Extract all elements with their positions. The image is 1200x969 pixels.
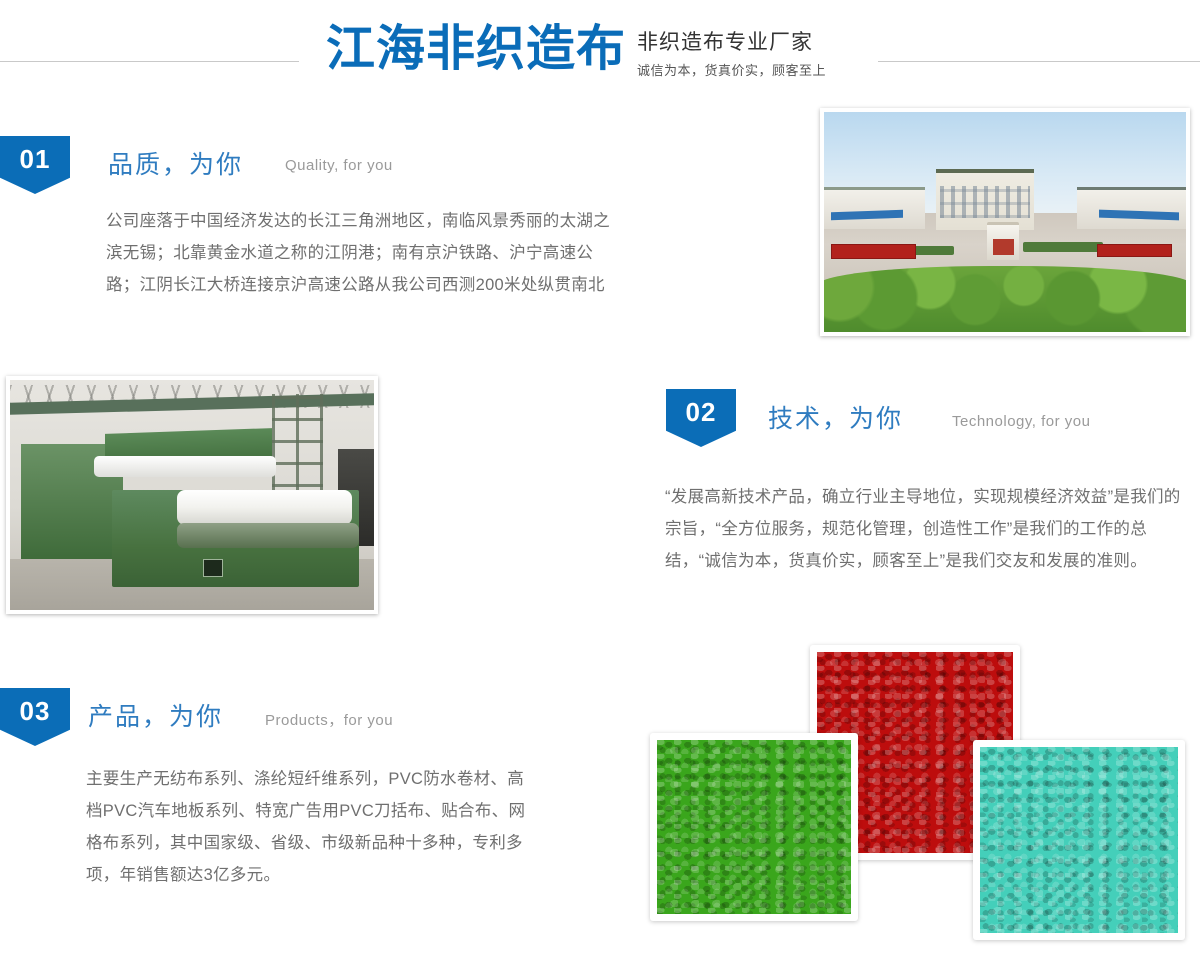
machine-photo-upper-roll bbox=[94, 456, 276, 477]
section-badge-01: 01 bbox=[0, 136, 70, 194]
section-body-02: “发展高新技术产品，确立行业主导地位，实现规模经济效益”是我们的宗旨，“全方位服… bbox=[665, 481, 1190, 577]
machine-photo-fabric-roll bbox=[177, 490, 352, 525]
header-rule-right bbox=[878, 61, 1200, 62]
photo-red-banner-right bbox=[1097, 244, 1171, 257]
brand-subtitle: 非织造布专业厂家 bbox=[637, 28, 813, 58]
photo-office-building bbox=[936, 169, 1034, 230]
section-title-cn-03: 产品，为你 bbox=[88, 700, 223, 734]
header-rule-left bbox=[0, 61, 299, 62]
photo-red-banner-left bbox=[831, 244, 916, 259]
photo-gate-house bbox=[987, 222, 1020, 260]
green-swatch-texture bbox=[657, 740, 851, 914]
nonwoven-production-line-photo bbox=[6, 376, 378, 614]
green-pvc-leather-swatch bbox=[650, 733, 858, 921]
section-badge-02: 02 bbox=[666, 389, 736, 447]
photo-right-workshop bbox=[1077, 187, 1186, 230]
section-title-en-01: Quality, for you bbox=[285, 155, 393, 177]
brand-title: 江海非织造布 bbox=[326, 19, 626, 79]
photo-left-workshop bbox=[824, 187, 925, 230]
cyan-pvc-leather-swatch bbox=[973, 740, 1185, 940]
section-title-en-03: Products，for you bbox=[265, 710, 393, 732]
section-badge-03: 03 bbox=[0, 688, 70, 746]
brand-slogan: 诚信为本，货真价实，顾客至上 bbox=[637, 61, 826, 81]
section-title-cn-02: 技术，为你 bbox=[768, 402, 903, 436]
photo-hedge-right bbox=[1023, 242, 1103, 252]
machine-photo-control-panel bbox=[203, 559, 223, 577]
page-header: 江海非织造布 非织造布专业厂家 诚信为本，货真价实，顾客至上 bbox=[0, 0, 1200, 100]
section-body-01: 公司座落于中国经济发达的长江三角洲地区，南临风景秀丽的太湖之滨无锡；北靠黄金水道… bbox=[106, 205, 618, 301]
section-title-en-02: Technology, for you bbox=[952, 411, 1090, 433]
cyan-swatch-texture bbox=[980, 747, 1178, 933]
photo-tree-line bbox=[824, 266, 1186, 332]
machine-photo-cylinder bbox=[177, 523, 359, 548]
factory-aerial-photo bbox=[820, 108, 1190, 336]
section-title-cn-01: 品质，为你 bbox=[108, 148, 243, 182]
section-body-03: 主要生产无纺布系列、涤纶短纤维系列，PVC防水卷材、高档PVC汽车地板系列、特宽… bbox=[86, 763, 534, 891]
